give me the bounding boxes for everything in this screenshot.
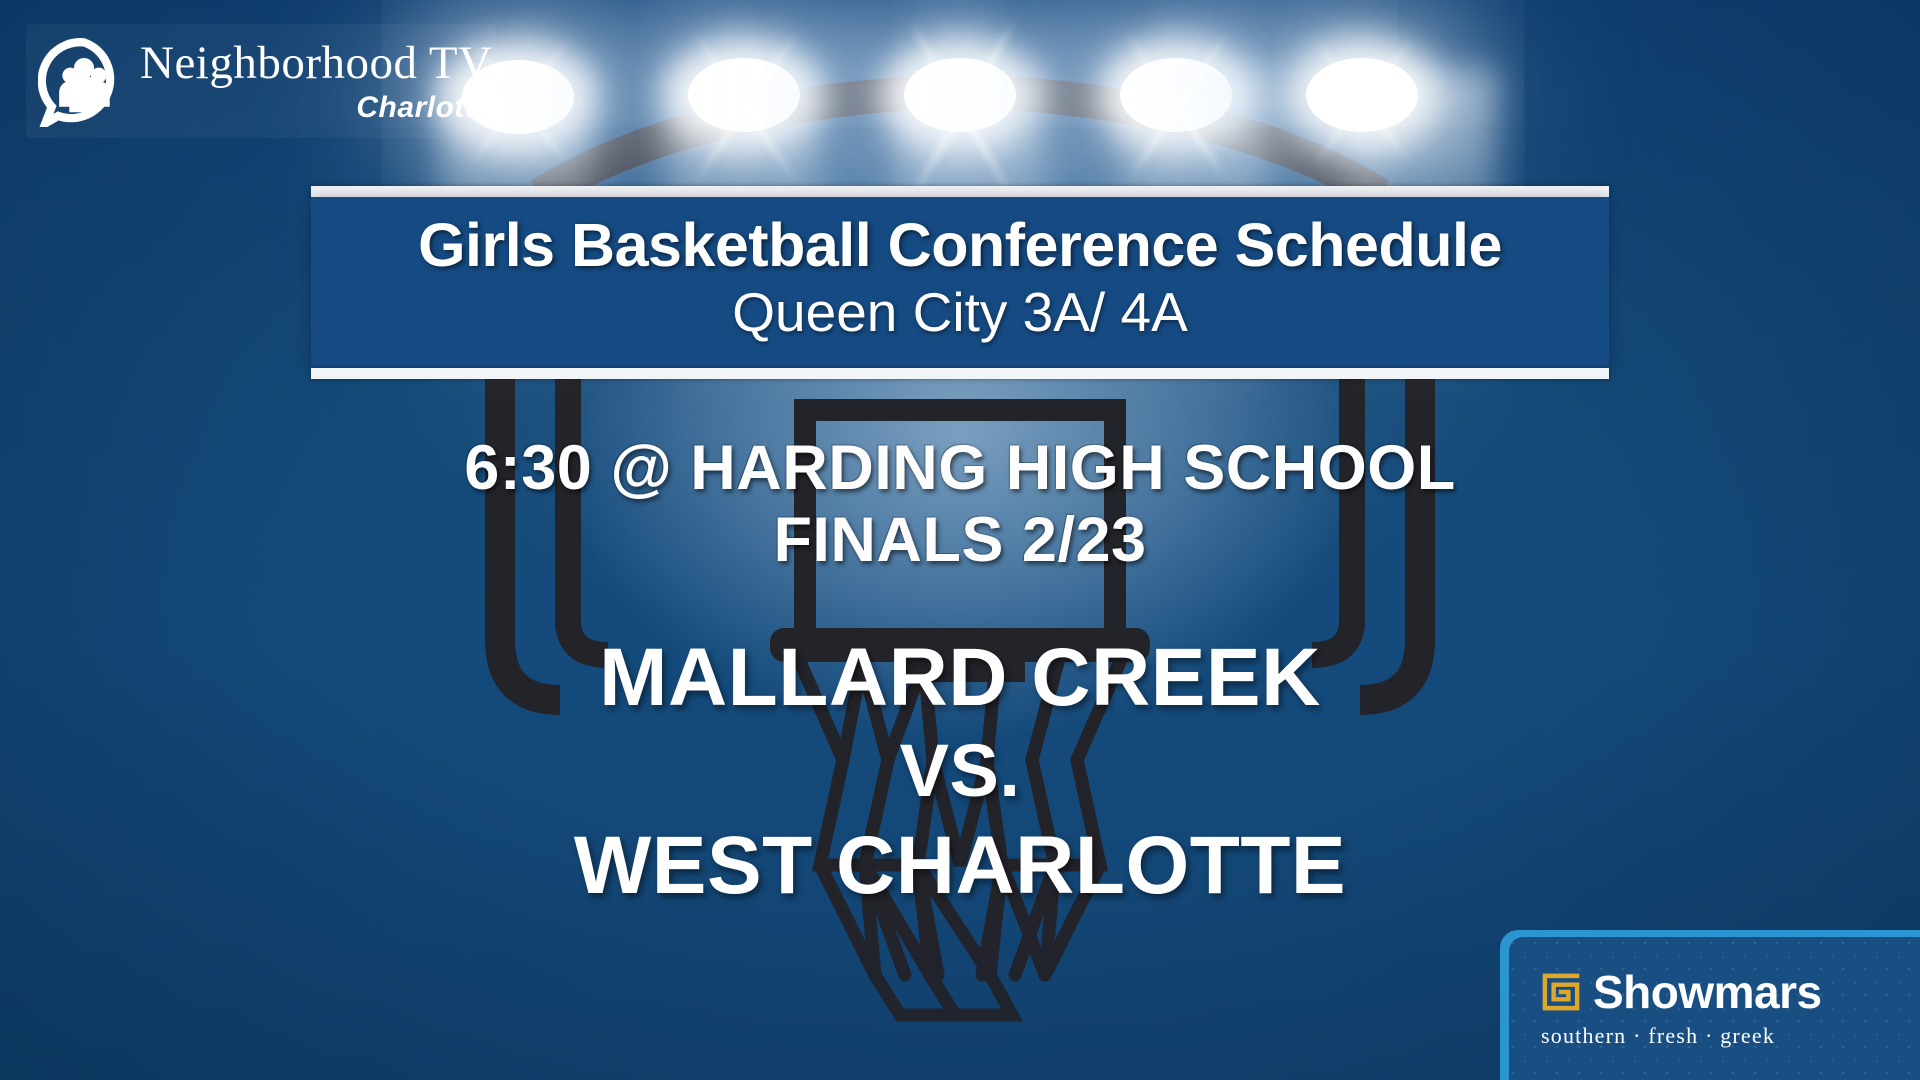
people-speech-bubble-icon — [38, 35, 130, 127]
sponsor-name: Showmars — [1593, 969, 1822, 1015]
sponsor-tagline: southern · fresh · greek — [1539, 1023, 1920, 1049]
page-title: Girls Basketball Conference Schedule — [341, 213, 1579, 277]
matchup-block: MALLARD CREEK VS. WEST CHARLOTTE — [0, 630, 1920, 913]
page-subtitle: Queen City 3A/ 4A — [341, 281, 1579, 344]
station-name: Neighborhood TV — [140, 40, 493, 87]
station-market: Charlotte — [140, 93, 493, 123]
event-venue-line: 6:30 @ HARDING HIGH SCHOOL — [0, 432, 1920, 504]
stadium-light-icon — [904, 58, 1016, 132]
station-logo: Neighborhood TV Charlotte — [26, 24, 496, 138]
versus-separator: VS. — [0, 725, 1920, 818]
banner-bottom-rule — [311, 368, 1609, 379]
stadium-light-icon — [1306, 58, 1418, 132]
banner-body: Girls Basketball Conference Schedule Que… — [311, 197, 1609, 368]
graphic-canvas: Neighborhood TV Charlotte Girls Basketba… — [0, 0, 1920, 1080]
stadium-light-icon — [688, 58, 800, 132]
away-team-name: WEST CHARLOTTE — [0, 818, 1920, 913]
stadium-light-icon — [1120, 58, 1232, 132]
event-details: 6:30 @ HARDING HIGH SCHOOL FINALS 2/23 — [0, 432, 1920, 577]
event-round-line: FINALS 2/23 — [0, 504, 1920, 576]
banner-top-rule — [311, 186, 1609, 197]
spiral-square-icon — [1539, 970, 1583, 1014]
sponsor-card: Showmars southern · fresh · greek — [1500, 930, 1920, 1080]
headline-banner: Girls Basketball Conference Schedule Que… — [311, 186, 1609, 379]
sponsor-panel: Showmars southern · fresh · greek — [1509, 937, 1920, 1080]
home-team-name: MALLARD CREEK — [0, 630, 1920, 725]
